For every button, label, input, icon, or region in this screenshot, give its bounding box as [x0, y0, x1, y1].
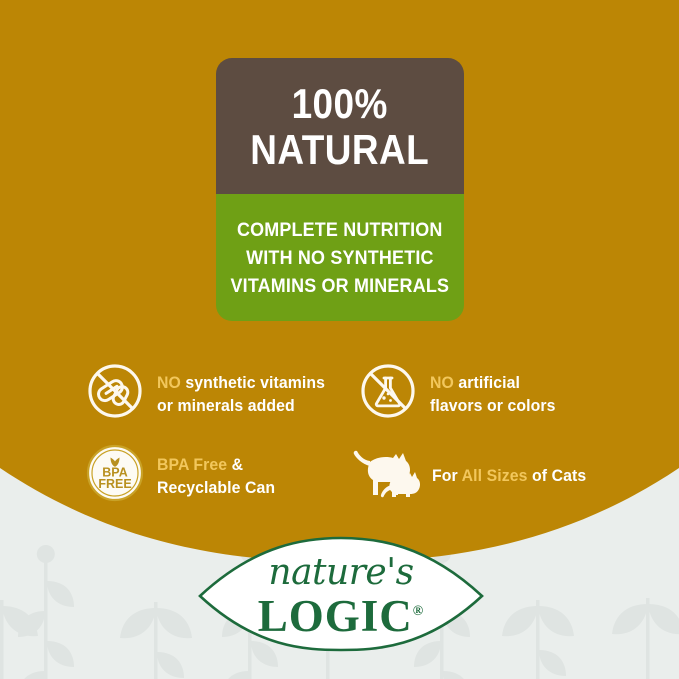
feature-1-highlight: NO [157, 373, 181, 392]
feature-4-highlight: All Sizes [462, 466, 528, 485]
badge-subtext-line2: WITH NO SYNTHETIC [246, 244, 434, 272]
feature-no-artificial-flavors: NO artificial flavors or colors [359, 362, 565, 425]
feature-bpa-free: BPA FREE BPA Free & Recyclable Can [86, 444, 284, 507]
logo-wordmark: LOGIC [258, 591, 413, 641]
natural-claim-badge: 100% NATURAL COMPLETE NUTRITION WITH NO … [216, 58, 464, 321]
feature-all-sizes-of-cats-text: For All Sizes of Cats [432, 464, 586, 487]
feature-3-line2: Recyclable Can [157, 478, 275, 497]
badge-headline-line1: 100% [292, 81, 388, 127]
product-infographic: 100% NATURAL COMPLETE NUTRITION WITH NO … [0, 0, 679, 679]
badge-subtext-line1: COMPLETE NUTRITION [237, 216, 443, 244]
logo-script-text: nature's [196, 552, 486, 593]
feature-bpa-free-text: BPA Free & Recyclable Can [157, 453, 275, 499]
badge-subtext-line3: VITAMINS OR MINERALS [231, 272, 450, 300]
logo-trademark: ® [413, 604, 424, 619]
no-flask-icon [359, 362, 417, 425]
feature-1-line1-rest: synthetic vitamins [181, 373, 325, 392]
feature-4-suffix: of Cats [528, 466, 587, 485]
bpa-icon-label-line2: FREE [98, 477, 131, 491]
feature-4-prefix: For [432, 466, 462, 485]
feature-1-line2: or minerals added [157, 396, 295, 415]
badge-headline-line2: NATURAL [251, 127, 430, 173]
badge-headline: 100% NATURAL [216, 58, 464, 194]
feature-2-line1-rest: artificial [454, 373, 520, 392]
feature-no-synthetic-vitamins: NO synthetic vitamins or minerals added [86, 362, 338, 425]
feature-no-artificial-flavors-text: NO artificial flavors or colors [430, 371, 555, 417]
cats-icon [348, 446, 424, 505]
no-pills-icon [86, 362, 144, 425]
badge-subtext: COMPLETE NUTRITION WITH NO SYNTHETIC VIT… [216, 194, 464, 321]
logo-main-text: LOGIC® [196, 590, 486, 642]
feature-2-highlight: NO [430, 373, 454, 392]
bpa-free-icon: BPA FREE [86, 444, 144, 507]
feature-2-line2: flavors or colors [430, 396, 555, 415]
feature-all-sizes-of-cats: For All Sizes of Cats [348, 446, 598, 505]
feature-3-highlight: BPA Free [157, 455, 227, 474]
feature-3-line1-rest: & [227, 455, 243, 474]
brand-logo: nature's LOGIC® [196, 536, 486, 652]
feature-no-synthetic-vitamins-text: NO synthetic vitamins or minerals added [157, 371, 325, 417]
